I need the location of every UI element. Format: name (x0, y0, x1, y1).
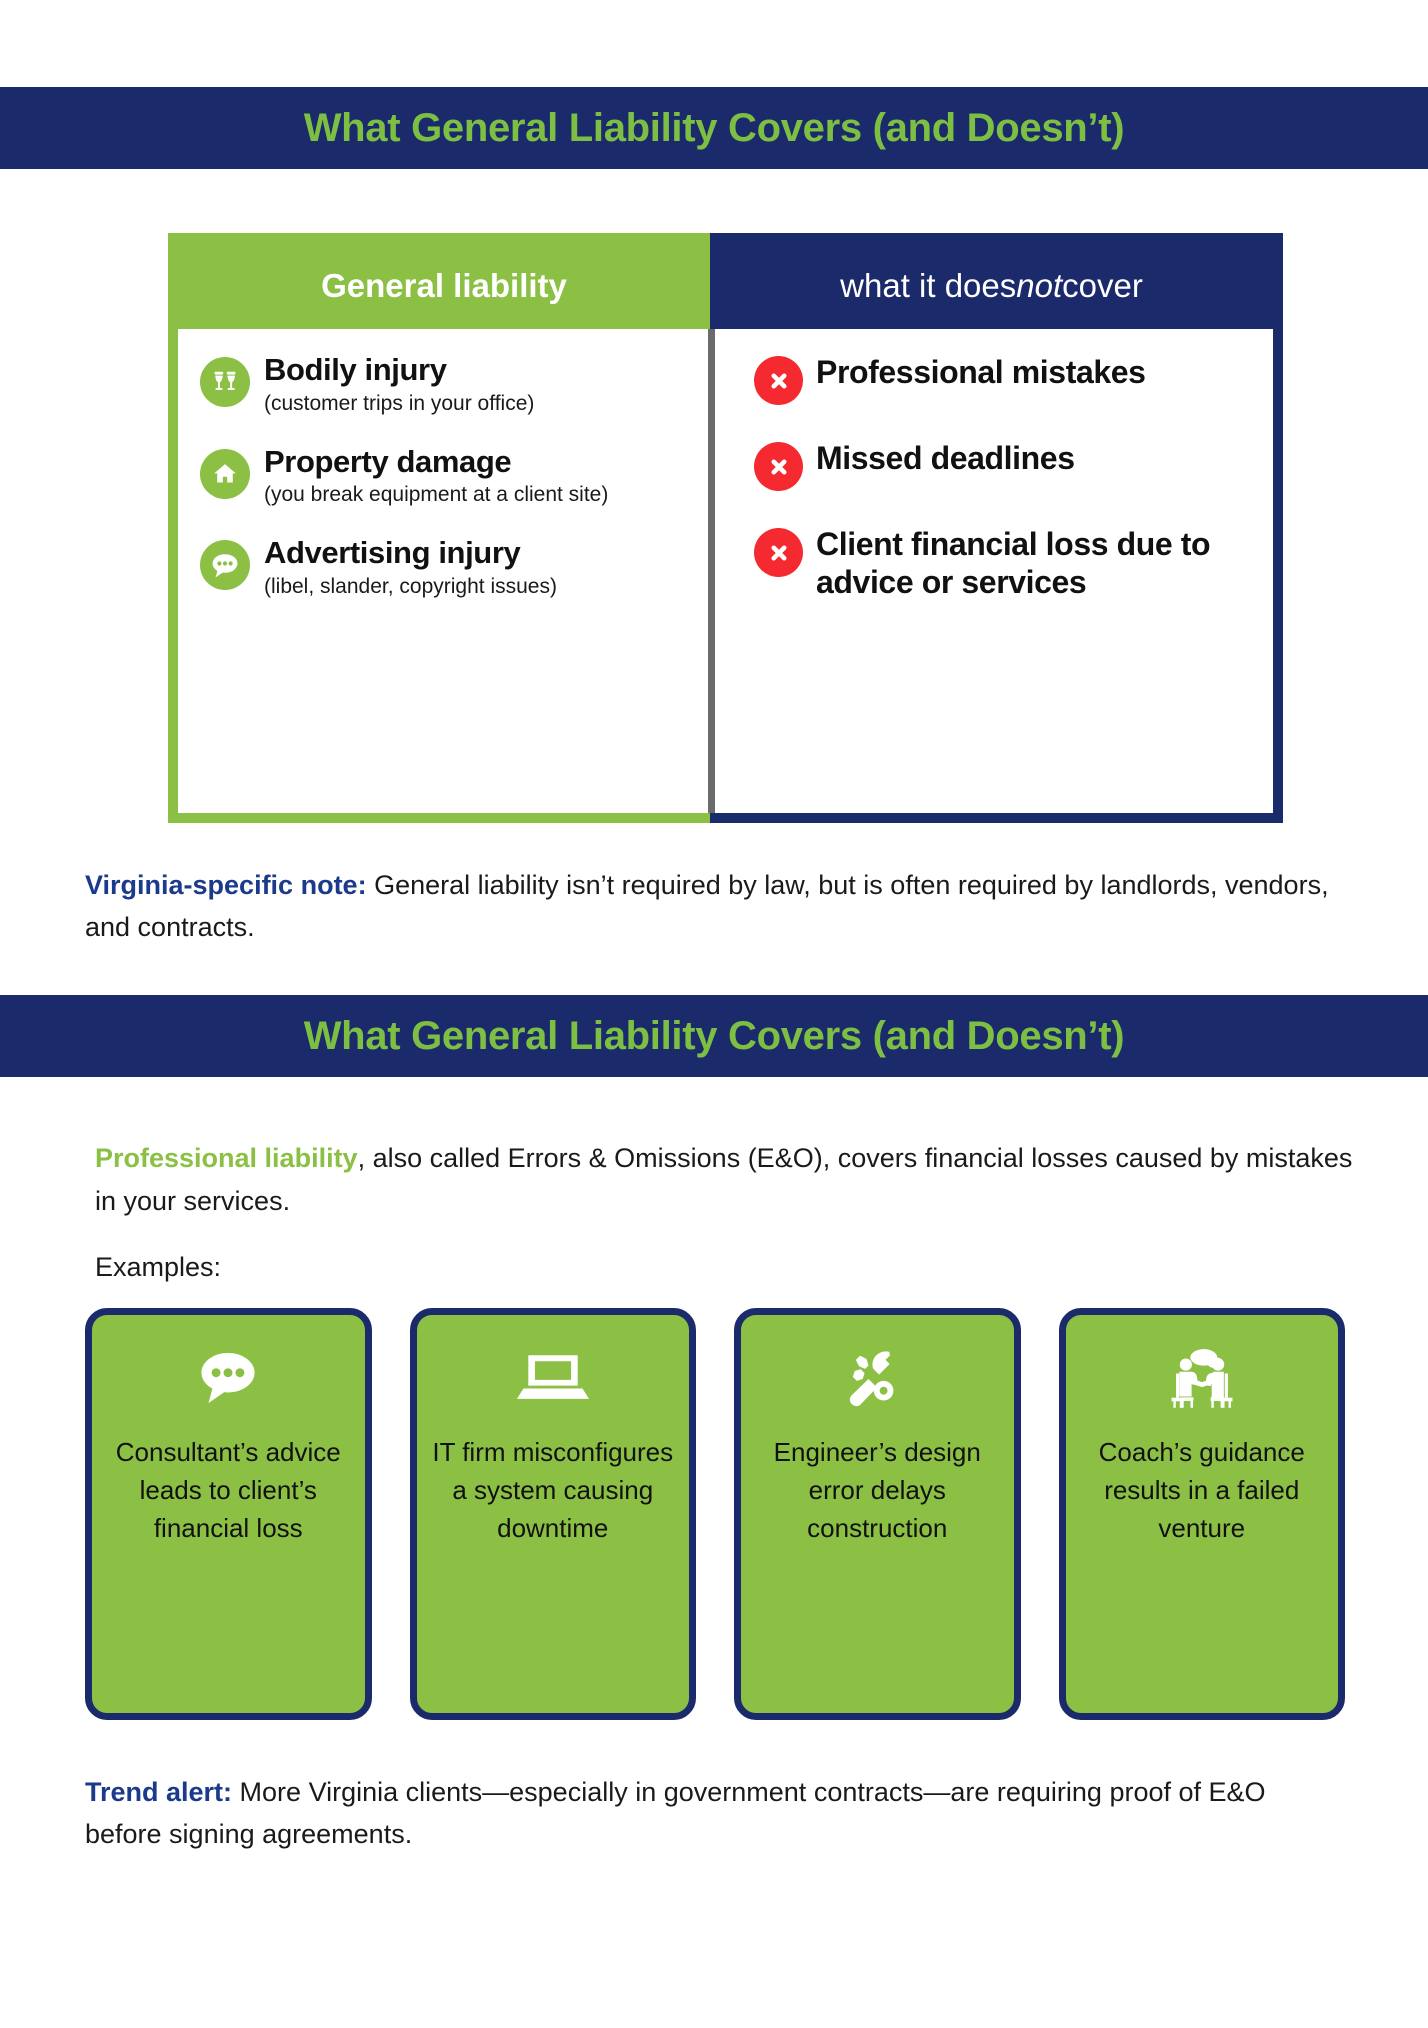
trend-note-body: More Virginia clients—especially in gove… (85, 1777, 1266, 1849)
speech-bubble-icon (200, 540, 250, 590)
red-x-icon (754, 356, 803, 405)
coverage-comparison-table: General liability what it does not cover (168, 233, 1283, 823)
list-item: Professional mistakes (754, 353, 1255, 405)
examples-label: Examples: (95, 1252, 221, 1283)
example-card-text: Engineer’s design error delays construct… (741, 1433, 1014, 1548)
example-card-engineer: Engineer’s design error delays construct… (734, 1308, 1021, 1720)
list-item-title: Bodily injury (264, 352, 447, 387)
list-item: Property damage (you break equipment at … (200, 445, 692, 511)
table-header-not-covered: what it does not cover (710, 243, 1273, 329)
section-banner-professional-liability: What General Liability Covers (and Doesn… (0, 995, 1428, 1077)
house-icon (200, 449, 250, 499)
professional-liability-highlight: Professional liability (95, 1143, 358, 1173)
example-card-coach: Coach’s guidance results in a failed ven… (1059, 1308, 1346, 1720)
wrench-gear-icon (841, 1341, 913, 1415)
section-banner-general-liability: What General Liability Covers (and Doesn… (0, 87, 1428, 169)
table-header-right-emphasis: not (1016, 267, 1062, 305)
list-item-title: Professional mistakes (816, 353, 1255, 391)
example-card-it-firm: IT firm misconfigures a system causing d… (410, 1308, 697, 1720)
example-card-consultant: Consultant’s advice leads to client’s fi… (85, 1308, 372, 1720)
red-x-icon (754, 528, 803, 577)
table-header-right-prefix: what it does (840, 267, 1016, 305)
coaching-people-icon (1159, 1341, 1245, 1415)
virginia-specific-note: Virginia-specific note: General liabilit… (85, 865, 1355, 949)
professional-liability-intro: Professional liability, also called Erro… (95, 1137, 1365, 1222)
red-x-icon (754, 442, 803, 491)
excluded-items-list: Professional mistakes Missed deadlines C… (710, 329, 1273, 813)
table-header-general-liability: General liability (178, 243, 710, 329)
list-item: Bodily injury (customer trips in your of… (200, 353, 692, 419)
speech-bubble-icon (192, 1341, 264, 1415)
list-item: Advertising injury (libel, slander, copy… (200, 536, 692, 602)
trend-note-label: Trend alert: (85, 1777, 232, 1807)
example-card-text: Coach’s guidance results in a failed ven… (1066, 1433, 1339, 1548)
list-item-title: Advertising injury (264, 535, 520, 570)
list-item-title: Missed deadlines (816, 439, 1255, 477)
trend-alert-note: Trend alert: More Virginia clients—espec… (85, 1772, 1325, 1856)
list-item-title: Client financial loss due to advice or s… (816, 525, 1255, 602)
list-item-title: Property damage (264, 444, 511, 479)
example-card-text: Consultant’s advice leads to client’s fi… (92, 1433, 365, 1548)
virginia-note-label: Virginia-specific note: (85, 870, 367, 900)
list-item-detail: (customer trips in your office) (264, 390, 692, 419)
list-item: Client financial loss due to advice or s… (754, 525, 1255, 602)
table-header-right-suffix: cover (1062, 267, 1143, 305)
list-item-detail: (libel, slander, copyright issues) (264, 573, 692, 602)
table-inner-surface: General liability what it does not cover (178, 243, 1273, 813)
banner-title: What General Liability Covers (and Doesn… (304, 1014, 1125, 1059)
list-item: Missed deadlines (754, 439, 1255, 491)
banner-title: What General Liability Covers (and Doesn… (304, 106, 1125, 151)
laptop-icon (515, 1341, 591, 1415)
list-item-detail: (you break equipment at a client site) (264, 481, 692, 510)
example-cards-row: Consultant’s advice leads to client’s fi… (85, 1308, 1345, 1720)
cocktail-glasses-icon (200, 357, 250, 407)
table-header-left-label: General liability (321, 267, 567, 305)
example-card-text: IT firm misconfigures a system causing d… (417, 1433, 690, 1548)
covered-items-list: Bodily injury (customer trips in your of… (178, 329, 710, 813)
